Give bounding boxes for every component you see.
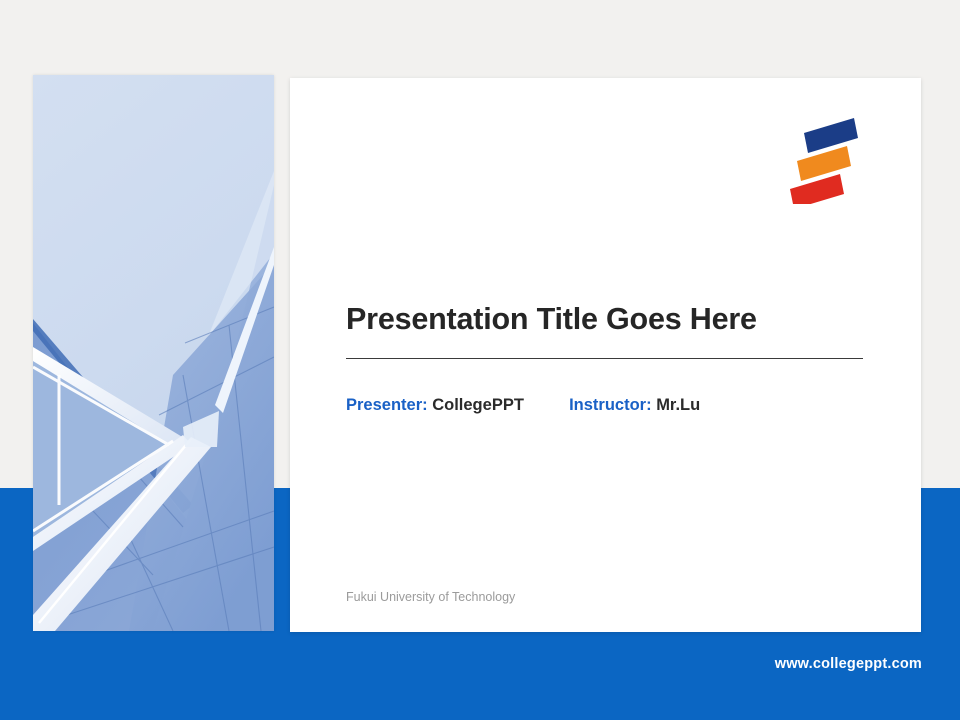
- presenter-value: CollegePPT: [432, 396, 524, 414]
- presentation-slide: www.collegeppt.com: [0, 0, 960, 720]
- title-divider: [346, 358, 863, 359]
- credits-line: Presenter: CollegePPT Instructor: Mr.Lu: [346, 396, 700, 415]
- presenter-label: Presenter:: [346, 396, 428, 414]
- page-title: Presentation Title Goes Here: [346, 302, 864, 337]
- logo-bar-navy: [804, 118, 858, 153]
- organization-name: Fukui University of Technology: [346, 590, 515, 604]
- brand-logo[interactable]: [788, 116, 864, 204]
- cover-photo-illustration: [33, 75, 274, 631]
- instructor-value: Mr.Lu: [656, 396, 700, 414]
- website-url[interactable]: www.collegeppt.com: [775, 656, 922, 672]
- instructor-label: Instructor:: [569, 396, 652, 414]
- logo-bar-orange: [797, 146, 851, 181]
- brand-logo-icon: [788, 116, 864, 204]
- slide-card: Presentation Title Goes Here Presenter: …: [290, 78, 921, 632]
- cover-photo: [33, 75, 274, 631]
- title-block: Presentation Title Goes Here: [346, 302, 864, 359]
- logo-bar-red: [790, 174, 844, 204]
